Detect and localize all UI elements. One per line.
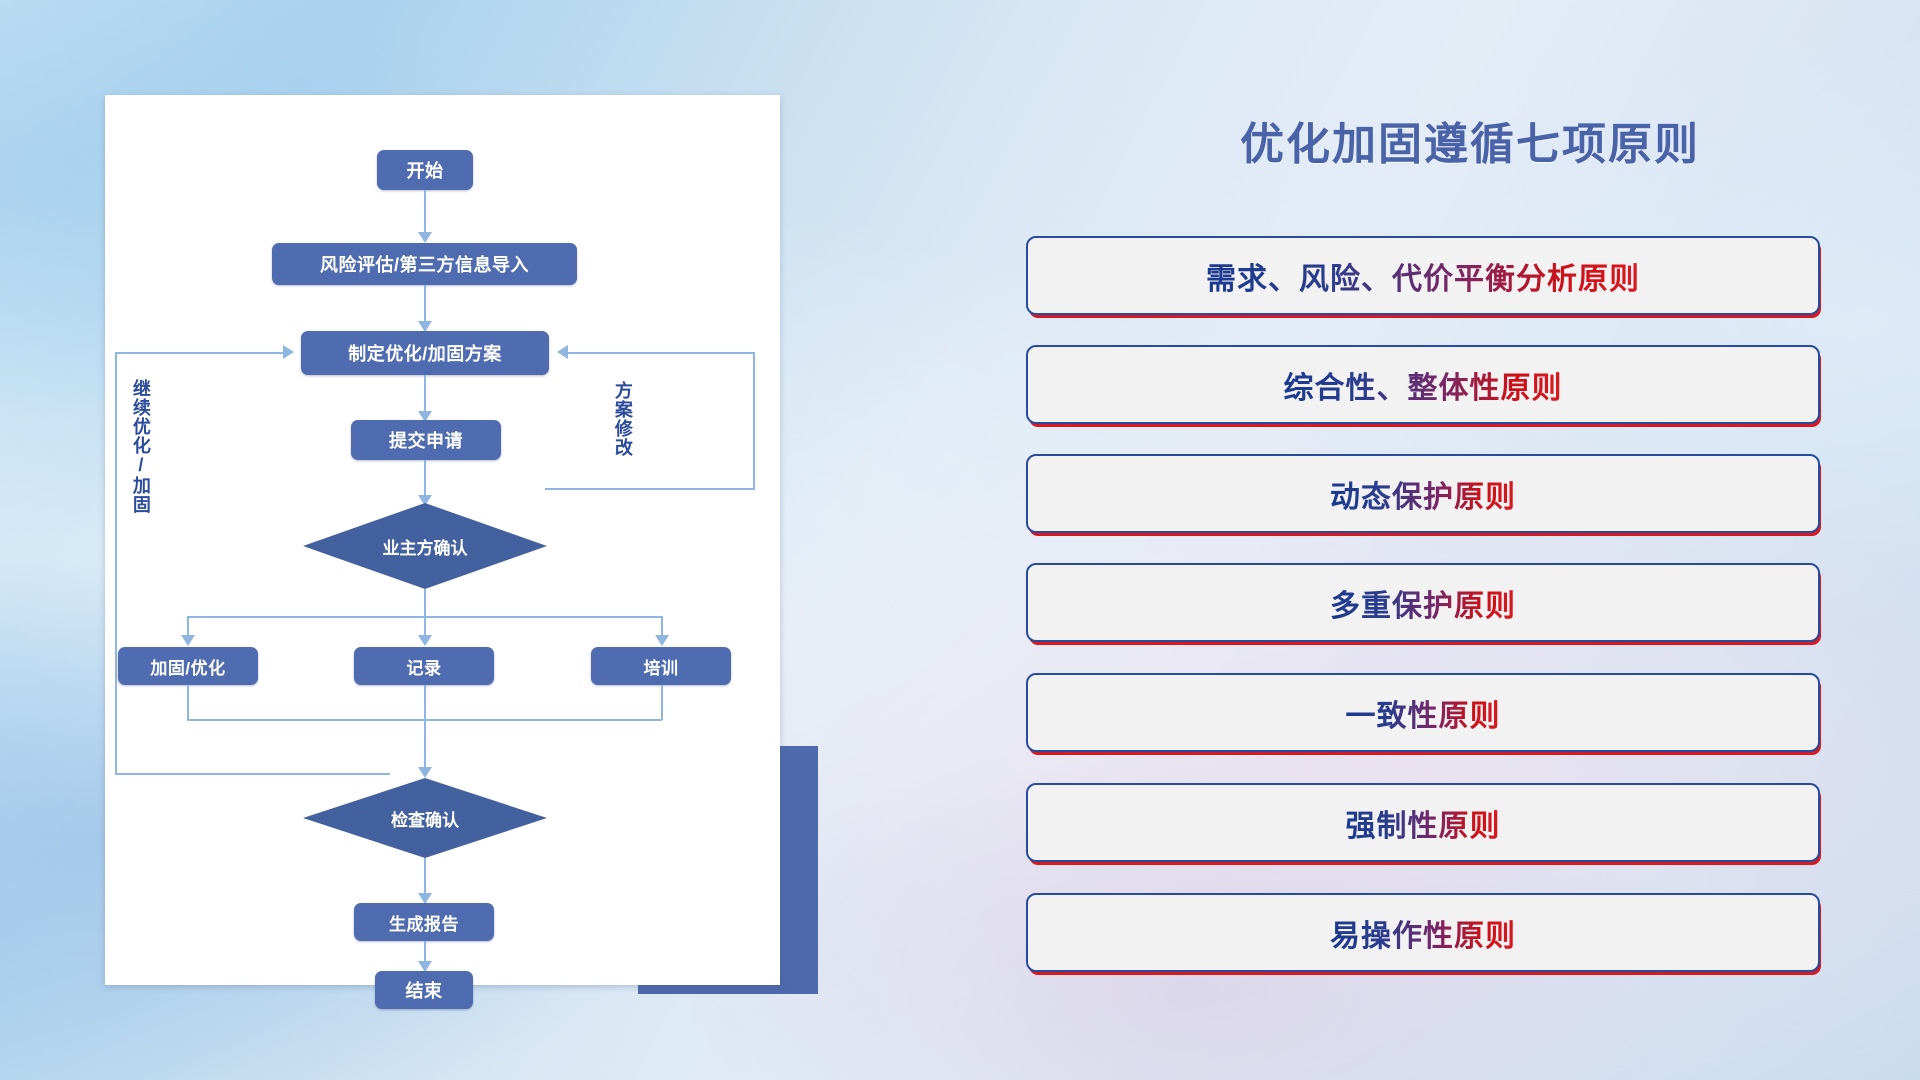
loop-right-horizontal-top [565, 352, 755, 354]
principle-card-6[interactable]: 强制性原则 [1026, 783, 1820, 862]
loop-left-horizontal-bottom [115, 773, 390, 775]
flow-node-label: 制定优化/加固方案 [348, 340, 502, 366]
loop-left-horizontal-top [115, 352, 285, 354]
flow-node-label: 风险评估/第三方信息导入 [320, 251, 529, 277]
connector-train-down [661, 685, 663, 720]
flow-node-inspection-confirmation[interactable]: 检查确认 [303, 778, 547, 858]
connector-owner-down [424, 589, 426, 617]
flow-node-label: 开始 [407, 157, 444, 183]
principle-card-5[interactable]: 一致性原则 [1026, 673, 1820, 752]
flow-node-label: 提交申请 [389, 427, 463, 453]
arrowhead-left [557, 345, 568, 359]
principle-label: 强制性原则 [1346, 801, 1501, 845]
loop-right-horizontal-bottom [545, 488, 755, 490]
connector-reinf-down [187, 685, 189, 720]
edge-label-plan-revision: 方案修改 [613, 381, 632, 457]
flowchart-card: 开始 风险评估/第三方信息导入 制定优化/加固方案 继续优化/加固 方案修改 提… [105, 95, 780, 985]
arrowhead-down [418, 232, 432, 243]
principle-card-3[interactable]: 动态保护原则 [1026, 454, 1820, 533]
edge-label-continue-optimize: 继续优化/加固 [131, 379, 150, 514]
flow-node-training[interactable]: 培训 [591, 647, 731, 685]
flow-node-start[interactable]: 开始 [377, 150, 473, 190]
arrowhead-down [655, 635, 669, 646]
connector-fanin-horizontal [187, 719, 662, 721]
principle-label: 需求、风险、代价平衡分析原则 [1206, 254, 1640, 298]
flow-node-generate-report[interactable]: 生成报告 [354, 903, 494, 941]
flow-node-submit-application[interactable]: 提交申请 [351, 420, 501, 460]
principle-label: 一致性原则 [1346, 691, 1501, 735]
flow-node-reinforce-optimize[interactable]: 加固/优化 [118, 647, 258, 685]
flow-node-label: 业主方确认 [383, 534, 468, 559]
flow-node-label: 培训 [644, 654, 679, 679]
principle-label: 动态保护原则 [1330, 472, 1516, 516]
loop-left-vertical [115, 352, 117, 775]
flow-node-label: 结束 [406, 977, 443, 1003]
flow-node-record[interactable]: 记录 [354, 647, 494, 685]
arrowhead-down [418, 767, 432, 778]
flow-node-label: 加固/优化 [150, 654, 225, 679]
flow-node-label: 生成报告 [389, 910, 459, 935]
arrowhead-right [283, 345, 294, 359]
flow-node-label: 记录 [407, 654, 442, 679]
principles-panel: 优化加固遵循七项原则 需求、风险、代价平衡分析原则 综合性、整体性原则 动态保护… [1020, 0, 1920, 1080]
principle-card-7[interactable]: 易操作性原则 [1026, 893, 1820, 972]
principle-label: 易操作性原则 [1330, 911, 1516, 955]
flow-node-end[interactable]: 结束 [375, 971, 473, 1009]
principle-card-1[interactable]: 需求、风险、代价平衡分析原则 [1026, 236, 1820, 315]
flow-node-make-plan[interactable]: 制定优化/加固方案 [301, 331, 549, 375]
arrowhead-down [181, 635, 195, 646]
flow-node-risk-assessment[interactable]: 风险评估/第三方信息导入 [272, 243, 577, 285]
loop-right-vertical [753, 352, 755, 490]
principle-label: 综合性、整体性原则 [1284, 363, 1563, 407]
principle-label: 多重保护原则 [1330, 581, 1516, 625]
principle-card-4[interactable]: 多重保护原则 [1026, 563, 1820, 642]
connector-record-down [424, 685, 426, 773]
flowchart-canvas: 开始 风险评估/第三方信息导入 制定优化/加固方案 继续优化/加固 方案修改 提… [105, 95, 780, 985]
flow-node-label: 检查确认 [391, 806, 459, 831]
connector-start-to-risk [424, 190, 426, 238]
flow-node-owner-confirmation[interactable]: 业主方确认 [303, 503, 547, 589]
arrowhead-down [418, 635, 432, 646]
principle-card-2[interactable]: 综合性、整体性原则 [1026, 345, 1820, 424]
panel-title: 优化加固遵循七项原则 [1020, 108, 1920, 172]
